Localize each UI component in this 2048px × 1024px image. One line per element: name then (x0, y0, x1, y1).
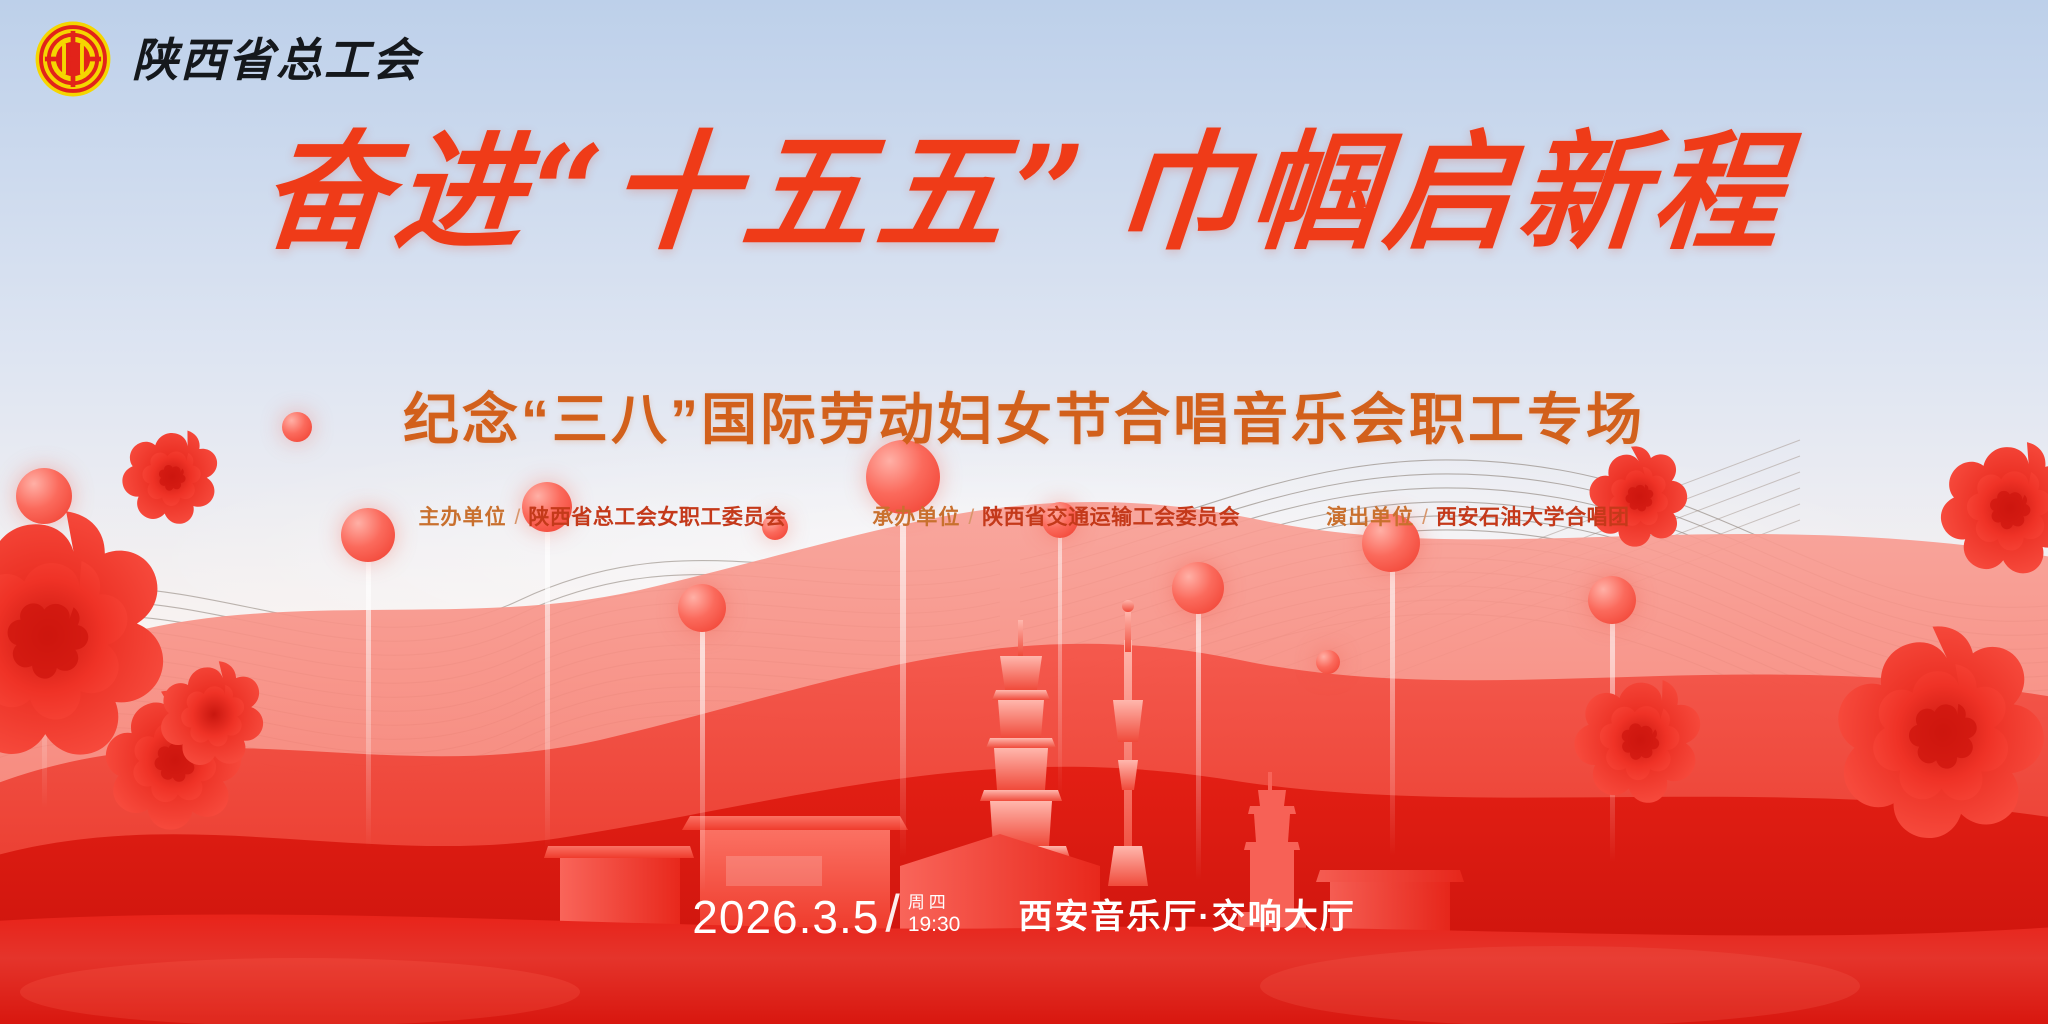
event-backdrop-poster: 陕西省总工会 奋进“十五五”巾帼启新程 纪念“三八”国际劳动妇女节合唱音乐会职工… (0, 0, 2048, 1024)
flower-mid-left (158, 657, 268, 771)
acftu-union-emblem-icon (34, 20, 112, 98)
credit-organization-name: 陕西省交通运输工会委员会 (982, 507, 1240, 528)
hill-mid (0, 644, 2048, 1024)
date-separator: / (885, 888, 899, 940)
line-wave-left (0, 560, 1000, 781)
page-title: 奋进“十五五”巾帼启新程 (0, 124, 2048, 262)
credit-separator: / (968, 507, 974, 528)
credit-performer: 演出单位 / 西安石油大学合唱团 (1326, 507, 1629, 528)
credit-host: 承办单位 / 陕西省交通运输工会委员会 (872, 507, 1240, 528)
headline-quote-open: “ (523, 118, 616, 268)
hill-far (0, 502, 2048, 1024)
credit-organization-name: 西安石油大学合唱团 (1436, 507, 1630, 528)
balloon-dot (1172, 562, 1224, 614)
event-weekday: 周四 (908, 893, 961, 913)
credit-separator: / (514, 507, 520, 528)
credit-organization-name: 陕西省总工会女职工委员会 (528, 507, 786, 528)
event-date: 2026.3.5 (692, 894, 879, 940)
flower-large-left (0, 494, 182, 773)
event-time: 19:30 (908, 913, 961, 937)
big-wild-goose-pagoda-landmark (962, 620, 1080, 932)
flower-small-left (95, 678, 253, 840)
organization-name-text: 陕西省总工会 (132, 33, 424, 87)
headline-quote-close: ” (1004, 118, 1097, 268)
event-venue: 西安音乐厅·交响大厅 (1018, 889, 1355, 940)
credit-role-label: 演出单位 (1326, 507, 1414, 528)
headline-keyword: 十五五 (602, 118, 1017, 268)
organization-name-calligraphy: 陕西省总工会 (132, 28, 462, 90)
headline-part1: 奋进 (255, 118, 536, 268)
balloon-dot (678, 584, 726, 632)
credit-role-label: 承办单位 (872, 507, 960, 528)
organization-logo: 陕西省总工会 (34, 20, 462, 98)
credit-organizer: 主办单位 / 陕西省总工会女职工委员会 (418, 507, 786, 528)
event-weekday-time: 周四 19:30 (908, 893, 961, 940)
flower-right-large (1829, 616, 2048, 846)
page-subtitle: 纪念“三八”国际劳动妇女节合唱音乐会职工专场 (0, 375, 2048, 456)
headline-part2: 巾帼启新程 (1110, 118, 1793, 268)
balloon-dot (1588, 576, 1636, 624)
balloon-beams (42, 478, 1615, 892)
balloon-dot (1316, 650, 1340, 674)
event-info-bar: 2026.3.5 / 周四 19:30 西安音乐厅·交响大厅 (0, 888, 2048, 940)
tv-tower-landmark (1108, 600, 1148, 886)
event-date-block: 2026.3.5 / 周四 19:30 (692, 888, 960, 940)
flower-right-lower (1561, 659, 1718, 819)
diagonal-ray-fan (1060, 440, 1800, 800)
credit-role-label: 主办单位 (418, 507, 506, 528)
credit-separator: / (1422, 507, 1428, 528)
credits-row: 主办单位 / 陕西省总工会女职工委员会 承办单位 / 陕西省交通运输工会委员会 … (0, 507, 2048, 528)
